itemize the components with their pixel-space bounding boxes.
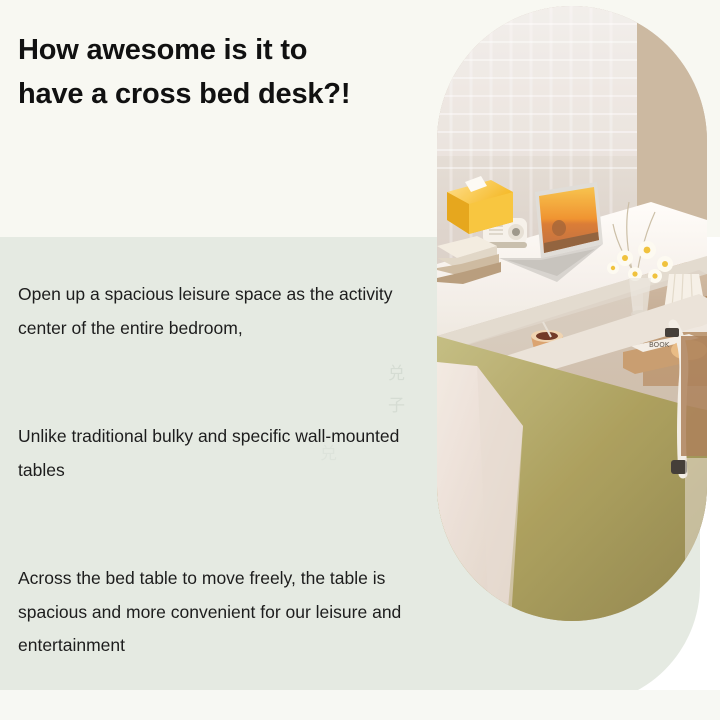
paragraph-2: Unlike traditional bulky and specific wa… xyxy=(18,420,430,487)
watermark-secondary: 兑 xyxy=(320,438,337,470)
headline-line-2: have a cross bed desk?! xyxy=(18,72,438,116)
watermark-primary: 兑 子 xyxy=(388,358,405,423)
paragraph-3: Across the bed table to move freely, the… xyxy=(18,562,430,663)
page-title: How awesome is it to have a cross bed de… xyxy=(18,28,438,116)
promo-page: How awesome is it to have a cross bed de… xyxy=(0,0,720,720)
product-photo: BOOK xyxy=(437,6,707,621)
bottom-left-band xyxy=(0,700,360,720)
headline-line-1: How awesome is it to xyxy=(18,28,438,72)
paragraph-1: Open up a spacious leisure space as the … xyxy=(18,278,430,345)
bedroom-scene-illustration: BOOK xyxy=(437,6,707,621)
